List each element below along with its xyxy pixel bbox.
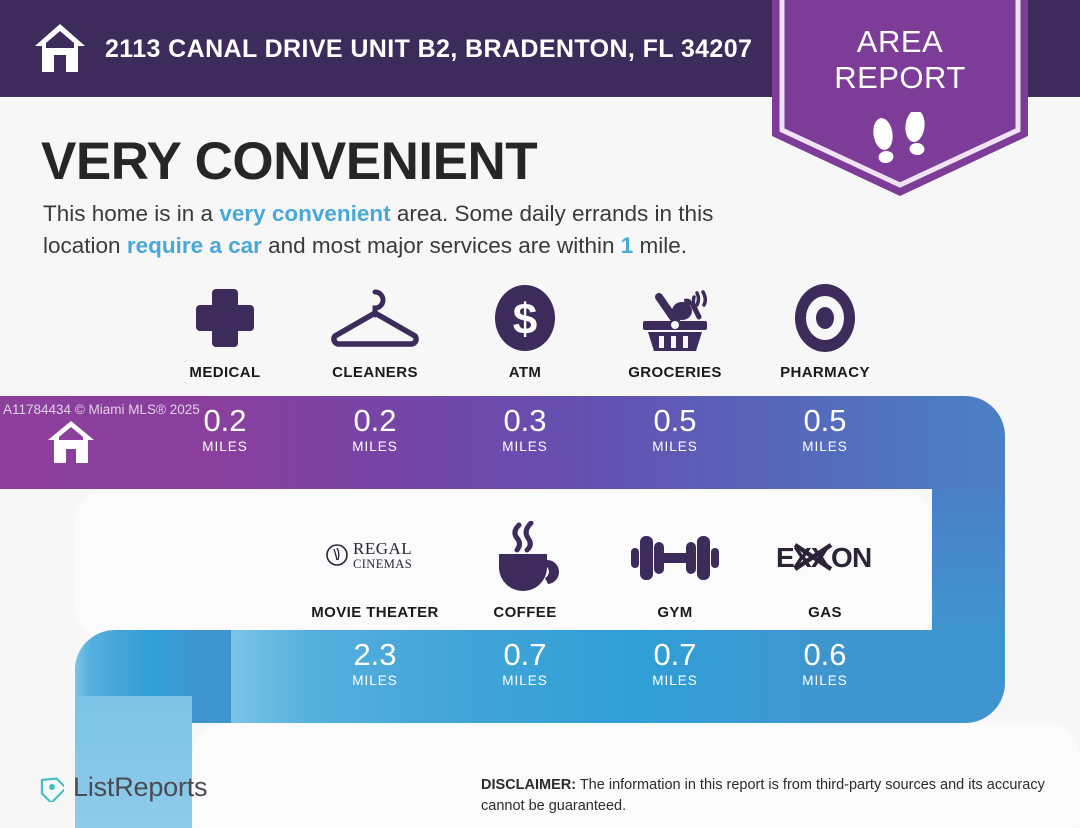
grocery-basket-icon: [637, 282, 713, 354]
summary-highlight-2: require a car: [127, 233, 262, 258]
distance-value: 0.2: [150, 405, 300, 438]
distance-unit: MILES: [450, 439, 600, 454]
distance-unit: MILES: [600, 673, 750, 688]
distance-cell: 0.5 MILES: [600, 405, 750, 454]
summary-highlight-1: very convenient: [219, 201, 390, 226]
svg-text:REGAL: REGAL: [353, 539, 412, 558]
area-report-badge: AREA REPORT: [772, 0, 1028, 196]
distance-unit: MILES: [600, 439, 750, 454]
summary-part-1: This home is in a: [43, 201, 219, 226]
distance-value: 0.6: [750, 639, 900, 672]
exxon-logo: E X X O N: [775, 522, 875, 594]
amenity-coffee[interactable]: COFFEE: [450, 522, 600, 621]
pharmacy-target-icon: [793, 282, 857, 354]
distance-cell: 0.2 MILES: [150, 405, 300, 454]
amenity-label: CLEANERS: [332, 364, 418, 381]
amenity-medical[interactable]: MEDICAL: [150, 282, 300, 381]
listreports-house-icon: [36, 774, 64, 802]
distance-cell: 2.3 MILES: [300, 639, 450, 688]
medical-cross-icon: [192, 282, 258, 354]
dumbbell-icon: [631, 522, 719, 594]
amenity-label: GAS: [808, 604, 842, 621]
area-report-page: 2113 CANAL DRIVE UNIT B2, BRADENTON, FL …: [0, 0, 1080, 828]
amenity-atm[interactable]: $ ATM: [450, 282, 600, 381]
distance-cell: 0.7 MILES: [450, 639, 600, 688]
brand-name: ListReports: [73, 772, 207, 803]
svg-text:E: E: [776, 542, 795, 573]
amenity-movie-theater[interactable]: REGAL CINEMAS MOVIE THEATER: [300, 522, 450, 621]
distance-cell: 0.3 MILES: [450, 405, 600, 454]
svg-text:$: $: [513, 295, 537, 344]
distance-value: 0.2: [300, 405, 450, 438]
footprints-icon: [866, 112, 936, 168]
ribbon-home-icon: [47, 420, 95, 464]
page-title: VERY CONVENIENT: [41, 131, 537, 192]
distance-value: 0.5: [750, 405, 900, 438]
distance-cell: 0.5 MILES: [750, 405, 900, 454]
amenity-gas[interactable]: E X X O N GAS: [750, 522, 900, 621]
svg-text:CINEMAS: CINEMAS: [353, 557, 412, 571]
distance-cell: 0.6 MILES: [750, 639, 900, 688]
amenity-icon-row-1: MEDICAL CLEANERS $ ATM: [150, 282, 900, 381]
distance-value: 2.3: [300, 639, 450, 672]
distance-value: 0.5: [600, 405, 750, 438]
disclaimer: DISCLAIMER: The information in this repo…: [481, 775, 1051, 817]
amenity-label: MEDICAL: [189, 364, 260, 381]
dollar-circle-icon: $: [493, 282, 557, 354]
listreports-brand[interactable]: ListReports: [36, 772, 207, 803]
amenity-gym[interactable]: GYM: [600, 522, 750, 621]
badge-title-line2: REPORT: [772, 60, 1028, 96]
distance-value: 0.3: [450, 405, 600, 438]
summary-part-4: mile.: [633, 233, 687, 258]
svg-text:O: O: [831, 542, 853, 573]
distance-unit: MILES: [450, 673, 600, 688]
badge-title: AREA REPORT: [772, 24, 1028, 95]
badge-title-line1: AREA: [772, 24, 1028, 60]
distance-value: 0.7: [450, 639, 600, 672]
distance-row-2: 2.3 MILES 0.7 MILES 0.7 MILES 0.6 MILES: [300, 639, 900, 688]
distance-unit: MILES: [750, 439, 900, 454]
summary-text: This home is in a very convenient area. …: [43, 198, 773, 262]
amenity-label: COFFEE: [493, 604, 556, 621]
distance-value: 0.7: [600, 639, 750, 672]
distance-unit: MILES: [750, 673, 900, 688]
disclaimer-label: DISCLAIMER:: [481, 777, 576, 793]
amenity-label: MOVIE THEATER: [311, 604, 438, 621]
distance-cell: 0.2 MILES: [300, 405, 450, 454]
amenity-label: ATM: [509, 364, 542, 381]
home-icon: [33, 22, 87, 74]
property-address: 2113 CANAL DRIVE UNIT B2, BRADENTON, FL …: [105, 35, 752, 64]
distance-row-1: 0.2 MILES 0.2 MILES 0.3 MILES 0.5 MILES …: [150, 405, 900, 454]
summary-part-3: and most major services are within: [262, 233, 621, 258]
svg-text:N: N: [852, 542, 872, 573]
amenity-label: GROCERIES: [628, 364, 722, 381]
amenity-groceries[interactable]: GROCERIES: [600, 282, 750, 381]
distance-cell: 0.7 MILES: [600, 639, 750, 688]
distance-unit: MILES: [300, 439, 450, 454]
amenity-cleaners[interactable]: CLEANERS: [300, 282, 450, 381]
amenity-label: GYM: [657, 604, 692, 621]
regal-cinemas-logo: REGAL CINEMAS: [323, 522, 427, 594]
amenity-icon-row-2: REGAL CINEMAS MOVIE THEATER COFFEE: [300, 522, 900, 621]
clothes-hanger-icon: [329, 282, 421, 354]
summary-highlight-3: 1: [621, 233, 634, 258]
distance-unit: MILES: [150, 439, 300, 454]
coffee-cup-icon: [489, 522, 561, 594]
amenity-label: PHARMACY: [780, 364, 870, 381]
amenity-pharmacy[interactable]: PHARMACY: [750, 282, 900, 381]
distance-unit: MILES: [300, 673, 450, 688]
